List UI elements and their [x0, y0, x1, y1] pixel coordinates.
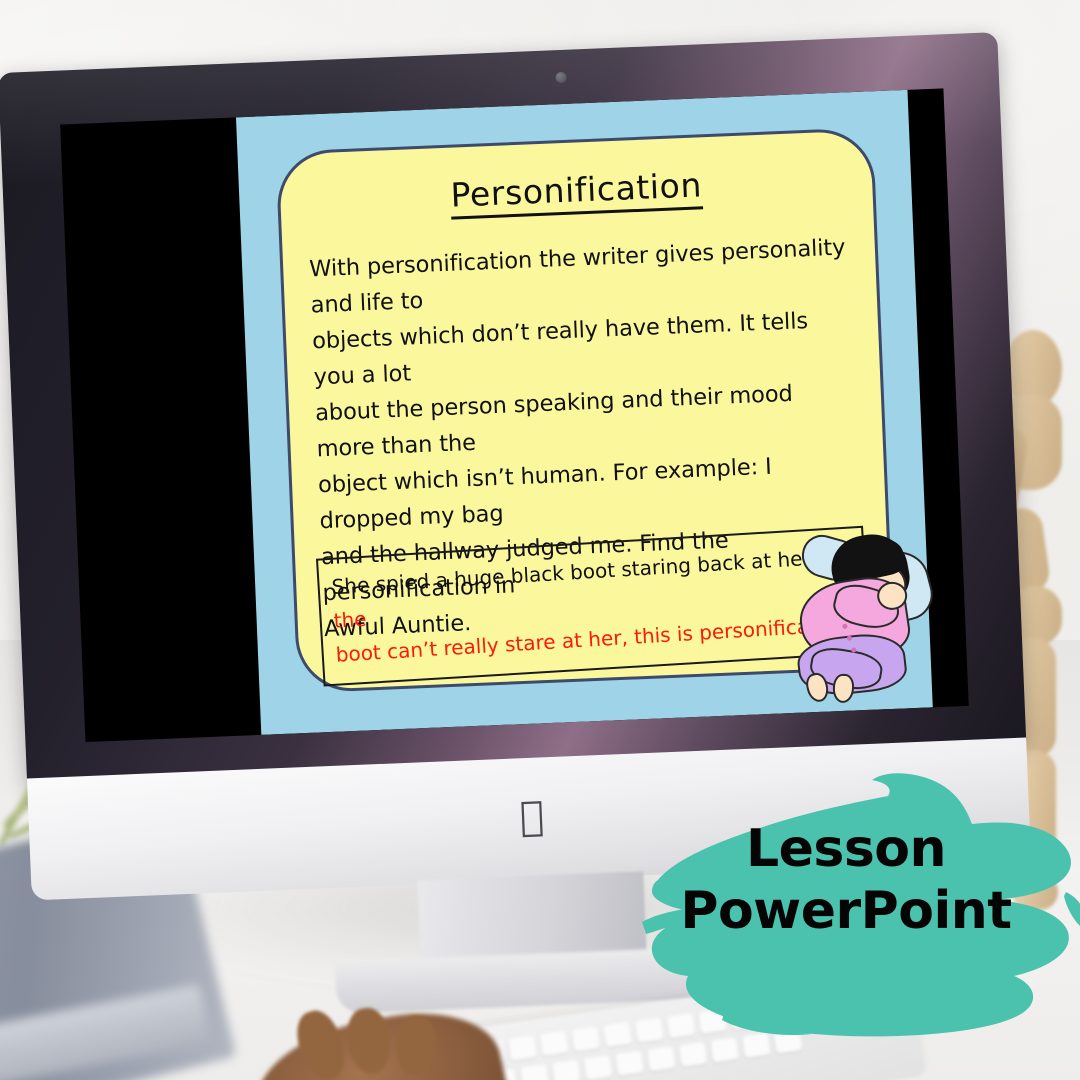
badge-line-2: PowerPoint — [636, 880, 1056, 942]
example-quote: She spied a huge black boot staring back… — [331, 545, 819, 598]
badge-text: Lesson PowerPoint — [636, 818, 1056, 942]
slide-title: Personification — [450, 165, 703, 219]
monitor-screen: Personification With personification the… — [60, 88, 969, 742]
slide-content-card: Personification With personification the… — [275, 127, 895, 693]
screenshot-canvas: Personification With personification the… — [0, 0, 1080, 1080]
sleeping-girl-illustration — [787, 528, 944, 702]
apple-logo-icon:  — [514, 797, 550, 838]
foot — [832, 673, 855, 703]
presentation-slide[interactable]: Personification With personification the… — [236, 90, 933, 735]
badge-line-1: Lesson — [636, 818, 1056, 880]
lesson-powerpoint-badge: Lesson PowerPoint — [636, 762, 1080, 1042]
